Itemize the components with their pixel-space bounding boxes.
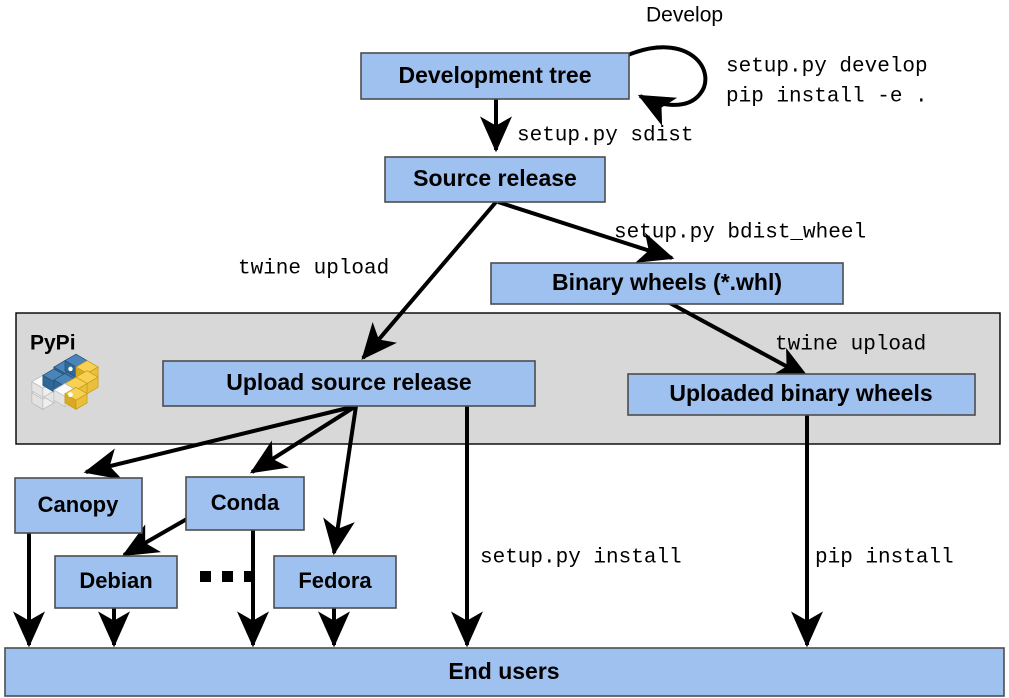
node-upload-source-release[interactable]: Upload source release bbox=[163, 361, 535, 406]
label-develop: Develop bbox=[646, 4, 723, 27]
conda-label: Conda bbox=[211, 490, 280, 515]
label-twine-upload-source: twine upload bbox=[238, 258, 389, 281]
end-users-label: End users bbox=[448, 658, 559, 684]
diagram-canvas: PyPi bbox=[0, 0, 1009, 698]
label-pip-install-e: pip install -e . bbox=[726, 86, 928, 109]
pypi-group-title: PyPi bbox=[30, 332, 76, 355]
label-pip-install: pip install bbox=[815, 547, 954, 570]
node-binary-wheels[interactable]: Binary wheels (*.whl) bbox=[491, 263, 843, 304]
label-setup-py-sdist: setup.py sdist bbox=[517, 125, 693, 148]
binary-wheels-label: Binary wheels (*.whl) bbox=[552, 269, 782, 295]
node-canopy[interactable]: Canopy bbox=[15, 478, 142, 533]
canopy-label: Canopy bbox=[38, 492, 119, 517]
node-uploaded-binary-wheels[interactable]: Uploaded binary wheels bbox=[628, 374, 975, 415]
label-setup-py-bdist-wheel: setup.py bdist_wheel bbox=[614, 222, 866, 245]
node-fedora[interactable]: Fedora bbox=[274, 556, 396, 608]
edge-develop-selfloop bbox=[628, 47, 705, 105]
uploaded-binary-wheels-label: Uploaded binary wheels bbox=[669, 380, 932, 406]
packaging-flow-diagram: PyPi bbox=[0, 0, 1009, 698]
node-conda[interactable]: Conda bbox=[186, 477, 304, 530]
node-debian[interactable]: Debian bbox=[55, 556, 177, 608]
debian-label: Debian bbox=[79, 568, 152, 593]
development-tree-label: Development tree bbox=[398, 62, 591, 88]
node-development-tree[interactable]: Development tree bbox=[361, 53, 629, 99]
label-twine-upload-wheels: twine upload bbox=[775, 334, 926, 357]
fedora-label: Fedora bbox=[298, 568, 372, 593]
node-source-release[interactable]: Source release bbox=[385, 157, 605, 202]
upload-source-release-label: Upload source release bbox=[226, 369, 471, 395]
label-setup-py-install: setup.py install bbox=[480, 547, 682, 570]
label-setup-py-develop: setup.py develop bbox=[726, 56, 928, 79]
source-release-label: Source release bbox=[413, 165, 577, 191]
node-end-users[interactable]: End users bbox=[5, 648, 1004, 696]
